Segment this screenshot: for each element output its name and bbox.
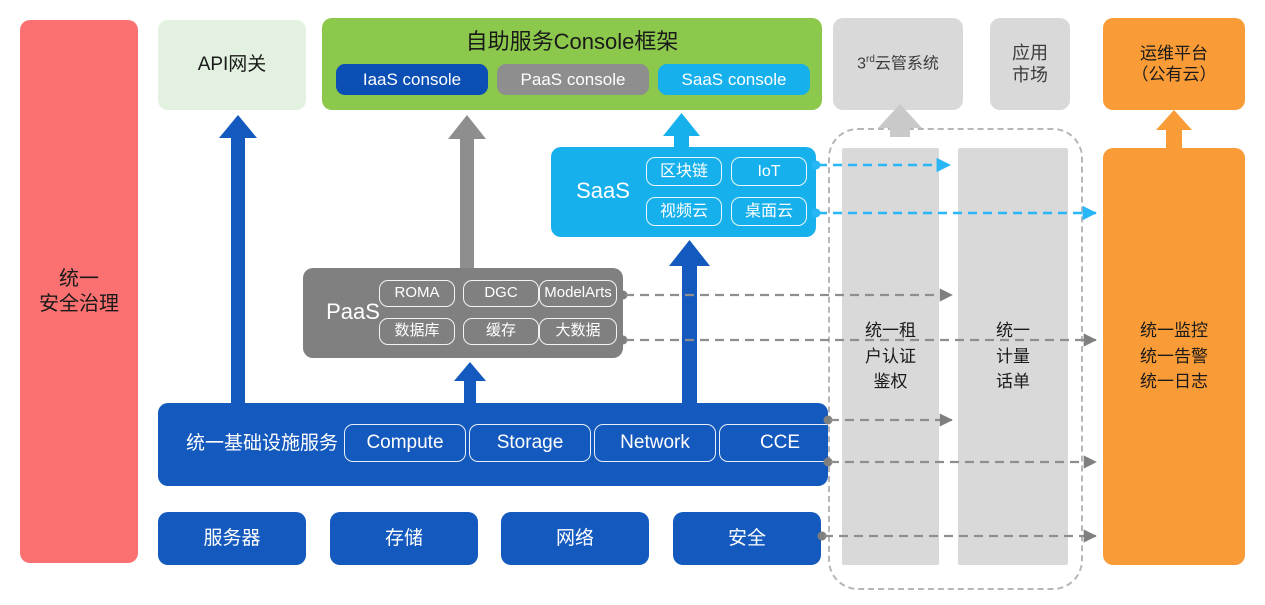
saas-item-blockchain[interactable]: 区块链 — [646, 157, 722, 186]
unified-monitoring-label: 统一监控 统一告警 统一日志 — [1140, 318, 1208, 395]
arrow-iaas-to-paas — [454, 362, 486, 403]
saas-item-video-cloud[interactable]: 视频云 — [646, 197, 722, 226]
hardware-item-server[interactable]: 服务器 — [158, 512, 306, 565]
third-party-cloud-management-box[interactable]: 3rd云管系统 — [833, 18, 963, 110]
unified-metering-label: 统一 计量 话单 — [996, 318, 1030, 395]
iaas-item-cce[interactable]: CCE — [719, 424, 841, 462]
saas-box[interactable]: SaaS 区块链 IoT 视频云 桌面云 — [551, 147, 816, 237]
paas-item-bigdata[interactable]: 大数据 — [539, 318, 617, 345]
self-service-console-framework-box[interactable]: 自助服务Console框架 IaaS console PaaS console … — [322, 18, 822, 110]
ops-platform-public-cloud-label: 运维平台 （公有云） — [1132, 43, 1217, 86]
api-gateway-label: API网关 — [198, 53, 267, 77]
hardware-item-storage[interactable]: 存储 — [330, 512, 478, 565]
arrow-ops-side-to-ops-top — [1156, 110, 1192, 148]
unified-security-governance-label: 统一 安全治理 — [39, 267, 119, 317]
saas-item-desktop-cloud[interactable]: 桌面云 — [731, 197, 807, 226]
ops-platform-public-cloud-box[interactable]: 运维平台 （公有云） — [1103, 18, 1245, 110]
unified-tenant-auth-label: 统一租 户认证 鉴权 — [865, 318, 916, 395]
app-market-box[interactable]: 应用 市场 — [990, 18, 1070, 110]
paas-box[interactable]: PaaS ROMA DGC ModelArts 数据库 缓存 大数据 — [303, 268, 623, 358]
arrow-iaas-to-api-gateway — [219, 115, 257, 403]
paas-item-database[interactable]: 数据库 — [379, 318, 455, 345]
unified-security-governance-box[interactable]: 统一 安全治理 — [20, 20, 138, 563]
paas-console-chip[interactable]: PaaS console — [497, 64, 649, 95]
arrow-iaas-to-saas — [669, 240, 710, 404]
unified-metering-column[interactable]: 统一 计量 话单 — [958, 148, 1068, 565]
iaas-item-network[interactable]: Network — [594, 424, 716, 462]
app-market-label: 应用 市场 — [1012, 42, 1048, 87]
hardware-item-security[interactable]: 安全 — [673, 512, 821, 565]
unified-infrastructure-label: 统一基础设施服务 — [172, 432, 352, 456]
paas-item-dgc[interactable]: DGC — [463, 280, 539, 307]
saas-item-iot[interactable]: IoT — [731, 157, 807, 186]
api-gateway-box[interactable]: API网关 — [158, 20, 306, 110]
paas-item-cache[interactable]: 缓存 — [463, 318, 539, 345]
hardware-item-network[interactable]: 网络 — [501, 512, 649, 565]
architecture-diagram: 统一 安全治理 API网关 自助服务Console框架 IaaS console… — [0, 0, 1265, 605]
paas-item-modelarts[interactable]: ModelArts — [539, 280, 617, 307]
console-framework-title: 自助服务Console框架 — [322, 28, 822, 56]
third-party-cloud-management-label: 3rd云管系统 — [857, 54, 939, 74]
iaas-item-storage[interactable]: Storage — [469, 424, 591, 462]
iaas-console-chip[interactable]: IaaS console — [336, 64, 488, 95]
arrow-paas-to-console — [448, 115, 486, 268]
unified-tenant-auth-column[interactable]: 统一租 户认证 鉴权 — [842, 148, 939, 565]
unified-infrastructure-box[interactable]: 统一基础设施服务 Compute Storage Network CCE — [158, 403, 828, 486]
iaas-item-compute[interactable]: Compute — [344, 424, 466, 462]
paas-item-roma[interactable]: ROMA — [379, 280, 455, 307]
unified-monitoring-box[interactable]: 统一监控 统一告警 统一日志 — [1103, 148, 1245, 565]
arrow-saas-to-console — [663, 113, 700, 149]
saas-label: SaaS — [563, 177, 643, 205]
saas-console-chip[interactable]: SaaS console — [658, 64, 810, 95]
